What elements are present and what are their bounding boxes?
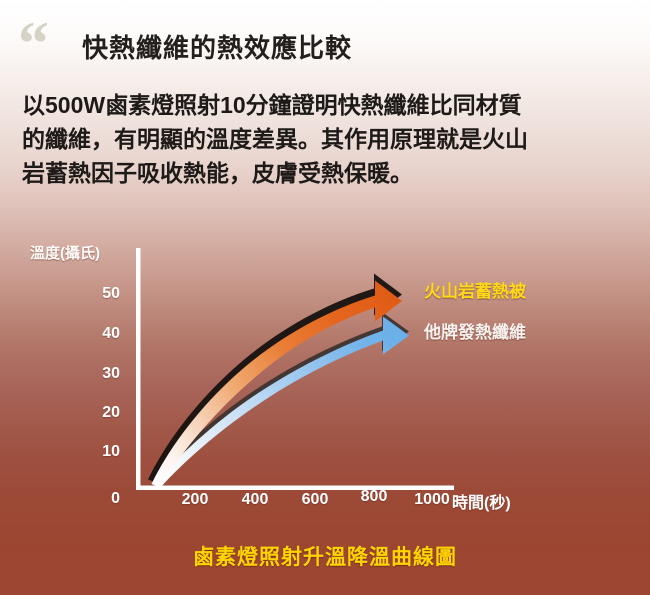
chart-plot-area [0,228,650,528]
chart-caption: 鹵素燈照射升溫降溫曲線圖 [0,541,650,571]
body-paragraph: 以500W鹵素燈照射10分鐘證明快熱纖維比同材質 的纖維，有明顯的溫度差異。其作… [22,88,632,190]
body-line-3: 岩蓄熱因子吸收熱能，皮膚受熱保暖。 [22,156,632,190]
body-line-2: 的纖維，有明顯的溫度差異。其作用原理就是火山 [22,122,632,156]
legend-item-hot: 火山岩蓄熱被 [424,277,526,302]
quote-mark-icon: “ [18,24,47,64]
body-line-1: 以500W鹵素燈照射10分鐘證明快熱纖維比同材質 [22,88,632,122]
poster-root: “ 快熱纖維的熱效應比較 以500W鹵素燈照射10分鐘證明快熱纖維比同材質 的纖… [0,0,650,595]
page-title: 快熱纖維的熱效應比較 [82,28,352,65]
legend-item-other: 他牌發熱纖維 [424,318,526,343]
